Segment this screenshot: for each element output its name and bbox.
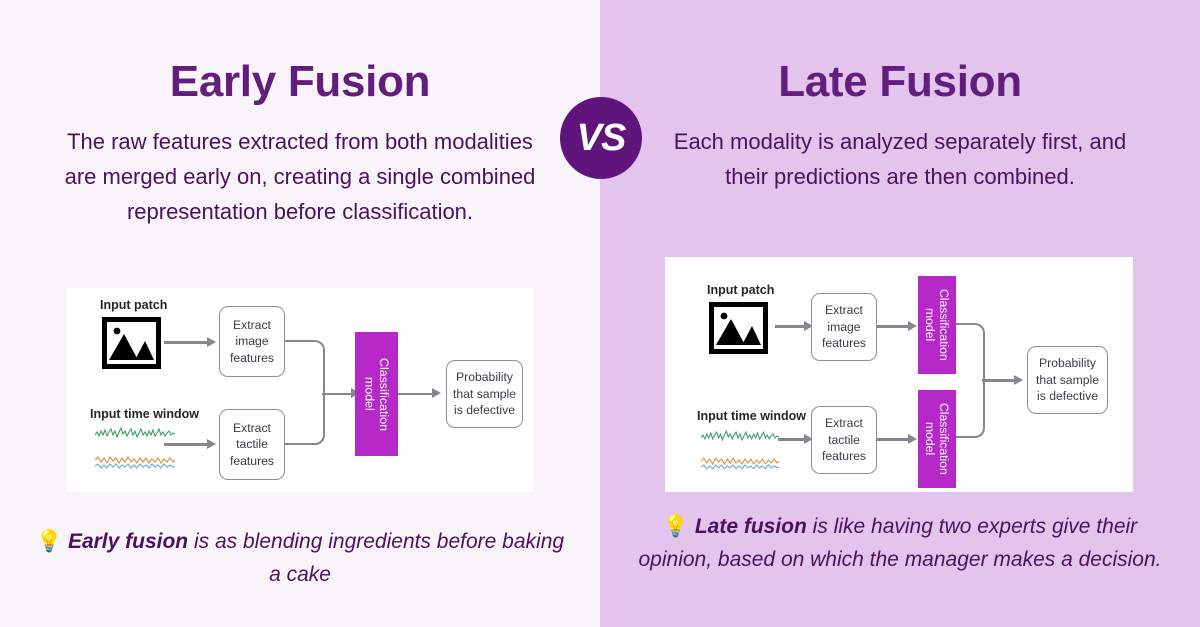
page-title-right: Late Fusion <box>600 57 1200 107</box>
panel-early-fusion: Early Fusion The raw features extracted … <box>0 0 600 627</box>
caption-bold-left: Early fusion <box>68 530 188 553</box>
signal-trace-orange-blue <box>701 455 779 471</box>
connector-extract-to-model-top <box>877 325 909 328</box>
caption-bold-right: Late fusion <box>695 515 807 538</box>
connector-merge-to-model <box>322 393 353 396</box>
arrowhead-signal-to-extract <box>207 439 216 449</box>
panel-late-fusion: Late Fusion Each modality is analyzed se… <box>600 0 1200 627</box>
page-title-left: Early Fusion <box>0 57 600 107</box>
arrowhead-extract-to-model-top <box>908 321 917 331</box>
node-line: tactile <box>822 432 866 449</box>
node-line: image <box>230 333 274 350</box>
signal-trace-orange-blue <box>95 454 175 470</box>
label-input-time-window: Input time window <box>90 407 199 421</box>
label-input-patch: Input patch <box>100 298 167 312</box>
connector-tactile-branch-elbow <box>285 392 325 445</box>
node-line: Extract <box>230 420 274 437</box>
versus-badge: VS <box>560 97 642 179</box>
model-box-classification-bottom: Classificationmodel <box>918 390 956 488</box>
node-line: is defective <box>453 402 516 419</box>
connector-signal-to-extract <box>778 438 806 441</box>
arrowhead-image-to-extract <box>207 337 216 347</box>
model-box-label: Classificationmodel <box>923 289 951 361</box>
node-line: features <box>230 350 274 367</box>
diagram-card-late: Input patch <box>665 257 1133 492</box>
label-input-patch: Input patch <box>707 283 774 297</box>
caption-early-fusion: 💡 Early fusion is as blending ingredient… <box>0 525 600 591</box>
model-box-label: Classificationmodel <box>923 403 951 475</box>
connector-signal-to-extract <box>164 443 208 446</box>
node-extract-image-features: Extract image features <box>219 306 285 377</box>
node-line: Probability <box>453 369 516 386</box>
node-line: that sample <box>1036 372 1099 389</box>
input-patch-image-icon <box>102 317 161 369</box>
node-extract-image-features: Extract image features <box>811 293 877 361</box>
mountain-photo-glyph <box>714 307 763 349</box>
lede-right: Each modality is analyzed separately fir… <box>600 124 1200 194</box>
connector-image-branch-elbow <box>285 340 325 395</box>
node-line: tactile <box>230 436 274 453</box>
node-line: Extract <box>822 415 866 432</box>
node-line: Extract <box>822 302 866 319</box>
node-line: features <box>822 448 866 465</box>
model-box-classification: Classificationmodel <box>355 332 398 456</box>
connector-top-model-elbow <box>956 323 985 381</box>
label-input-time-window: Input time window <box>697 409 806 423</box>
connector-extract-to-model-bottom <box>877 438 909 441</box>
lede-left: The raw features extracted from both mod… <box>0 124 600 229</box>
connector-merge-to-output <box>982 379 1016 382</box>
arrowhead-merge-to-output <box>1014 375 1023 385</box>
signal-trace-green <box>701 429 779 443</box>
node-line: Probability <box>1036 355 1099 372</box>
versus-badge-label: VS <box>577 119 626 157</box>
infographic-root: Early Fusion The raw features extracted … <box>0 0 1200 627</box>
node-line: image <box>822 319 866 336</box>
signal-trace-green <box>95 426 175 440</box>
diagram-card-early: Input patch <box>67 288 533 492</box>
caption-rest-left: is as blending ingredients before baking… <box>188 530 564 586</box>
node-line: is defective <box>1036 388 1099 405</box>
node-probability-output: Probability that sample is defective <box>1027 346 1108 414</box>
caption-late-fusion: 💡 Late fusion is like having two experts… <box>600 510 1200 576</box>
connector-bottom-model-elbow <box>956 379 985 438</box>
connector-image-to-extract <box>775 325 806 328</box>
node-extract-tactile-features: Extract tactile features <box>811 406 877 474</box>
arrowhead-extract-to-model-bottom <box>908 434 917 444</box>
node-line: Extract <box>230 317 274 334</box>
node-probability-output: Probability that sample is defective <box>446 360 523 428</box>
lightbulb-icon: 💡 <box>36 530 62 553</box>
node-line: that sample <box>453 386 516 403</box>
model-box-classification-top: Classificationmodel <box>918 276 956 374</box>
connector-model-to-output <box>398 393 434 396</box>
arrowhead-model-to-output <box>432 388 441 398</box>
node-line: features <box>822 335 866 352</box>
connector-image-to-extract <box>164 341 208 344</box>
lightbulb-icon: 💡 <box>663 515 689 538</box>
mountain-photo-glyph <box>107 322 156 364</box>
model-box-label: Classificationmodel <box>362 358 391 431</box>
node-line: features <box>230 453 274 470</box>
node-extract-tactile-features: Extract tactile features <box>219 409 285 480</box>
input-patch-image-icon <box>709 302 768 354</box>
